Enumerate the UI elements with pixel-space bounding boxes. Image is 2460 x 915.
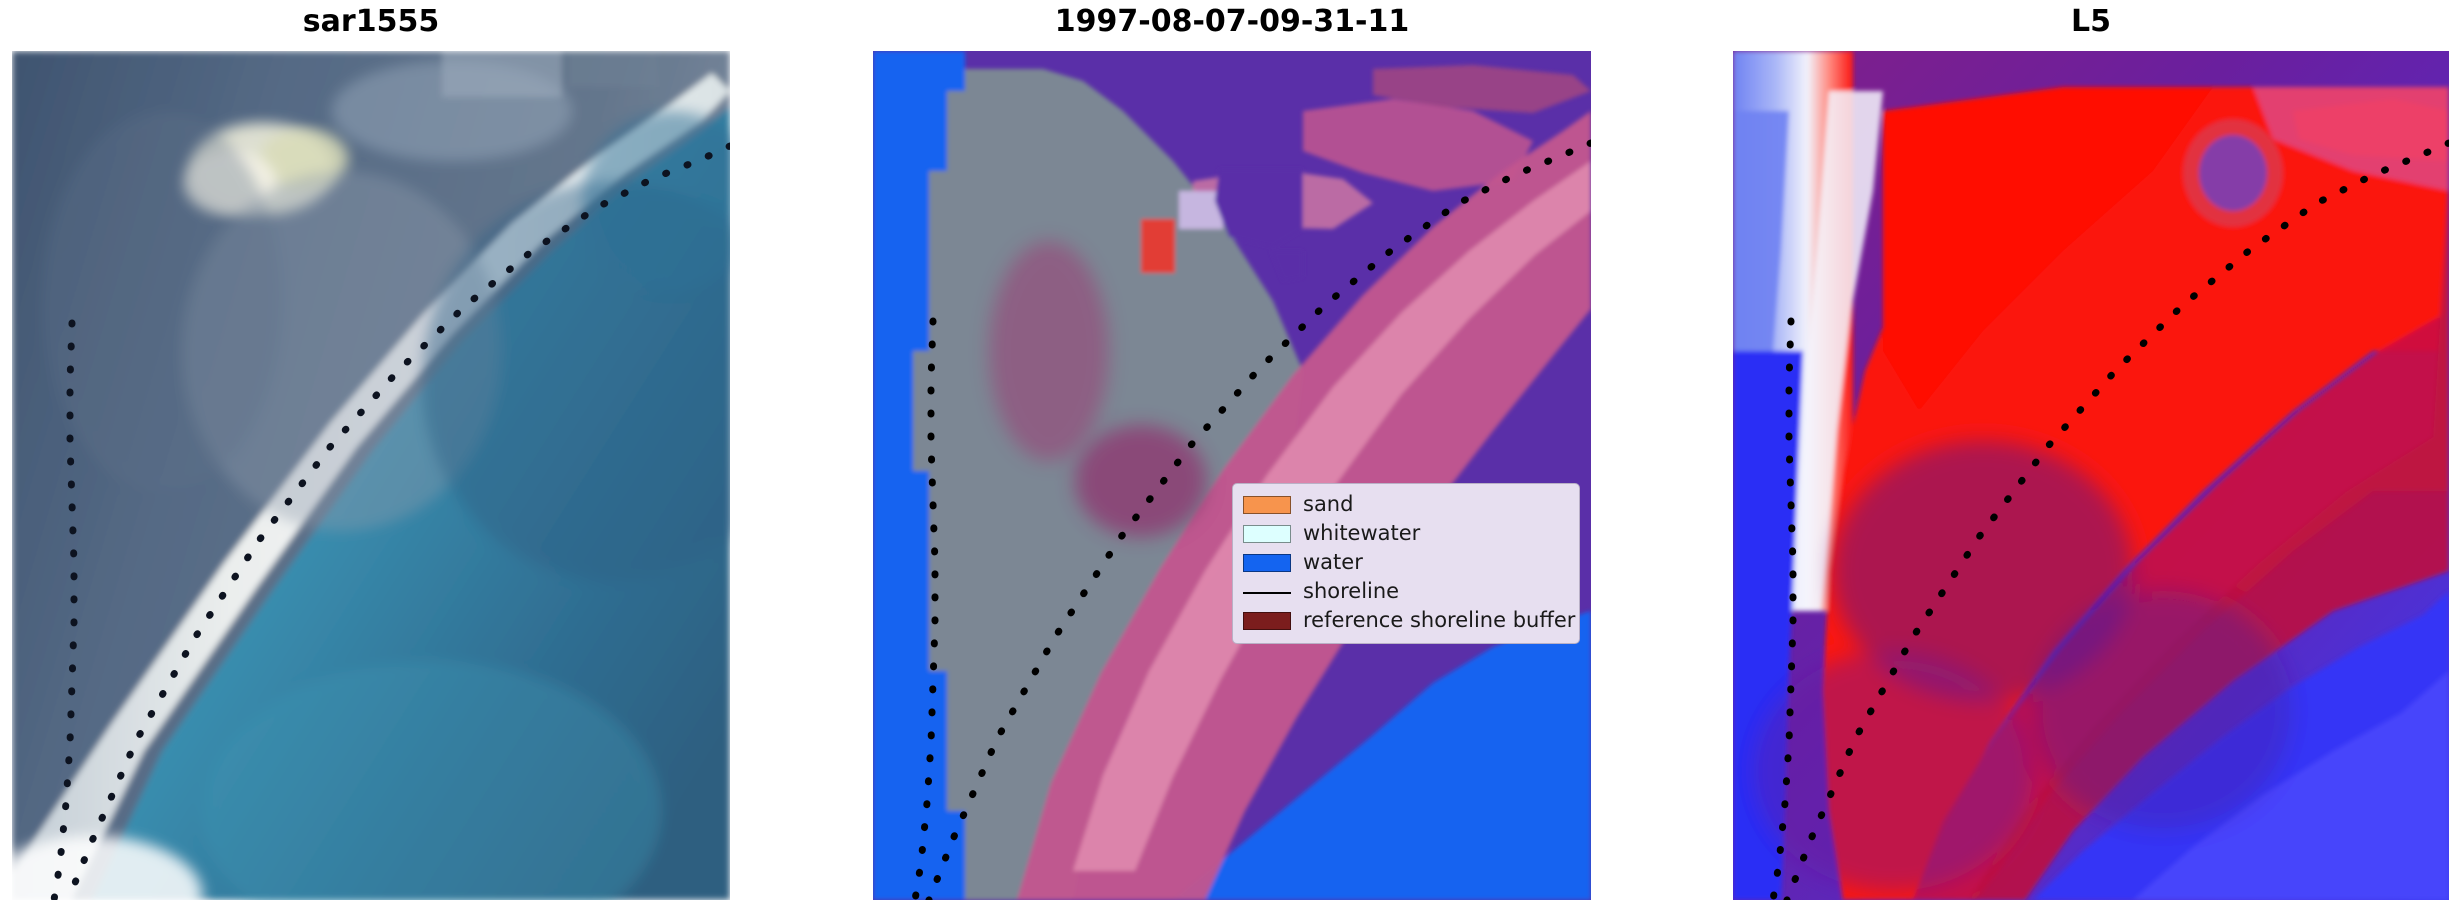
index-raster — [1733, 51, 2449, 900]
legend-item-whitewater[interactable]: whitewater — [1243, 519, 1569, 548]
legend-box: sand whitewater water shoreline referenc… — [1232, 483, 1580, 644]
legend-label-reference-shoreline-buffer: reference shoreline buffer — [1303, 610, 1575, 631]
whitewater-swatch-icon — [1243, 525, 1291, 543]
legend-item-sand[interactable]: sand — [1243, 490, 1569, 519]
shoreline-line-icon — [1243, 583, 1291, 601]
panel-title-classification: 1997-08-07-09-31-11 — [873, 4, 1591, 39]
figure-canvas: sar1555 — [0, 0, 2460, 915]
panel-index-image[interactable] — [1733, 51, 2449, 900]
legend-item-reference-shoreline-buffer[interactable]: reference shoreline buffer — [1243, 606, 1569, 635]
sand-swatch-icon — [1243, 496, 1291, 514]
panel-title-sar: sar1555 — [12, 4, 730, 39]
legend-item-shoreline[interactable]: shoreline — [1243, 577, 1569, 606]
panel-sar-image[interactable] — [12, 51, 730, 900]
classification-raster — [873, 51, 1591, 900]
panel-title-index: L5 — [1733, 4, 2449, 39]
legend-item-water[interactable]: water — [1243, 548, 1569, 577]
legend-label-water: water — [1303, 552, 1363, 573]
water-swatch-icon — [1243, 554, 1291, 572]
panel-classification-image[interactable] — [873, 51, 1591, 900]
reference-shoreline-buffer-swatch-icon — [1243, 612, 1291, 630]
legend-label-shoreline: shoreline — [1303, 581, 1399, 602]
legend-label-sand: sand — [1303, 494, 1353, 515]
sar-raster — [12, 51, 730, 900]
legend-label-whitewater: whitewater — [1303, 523, 1420, 544]
